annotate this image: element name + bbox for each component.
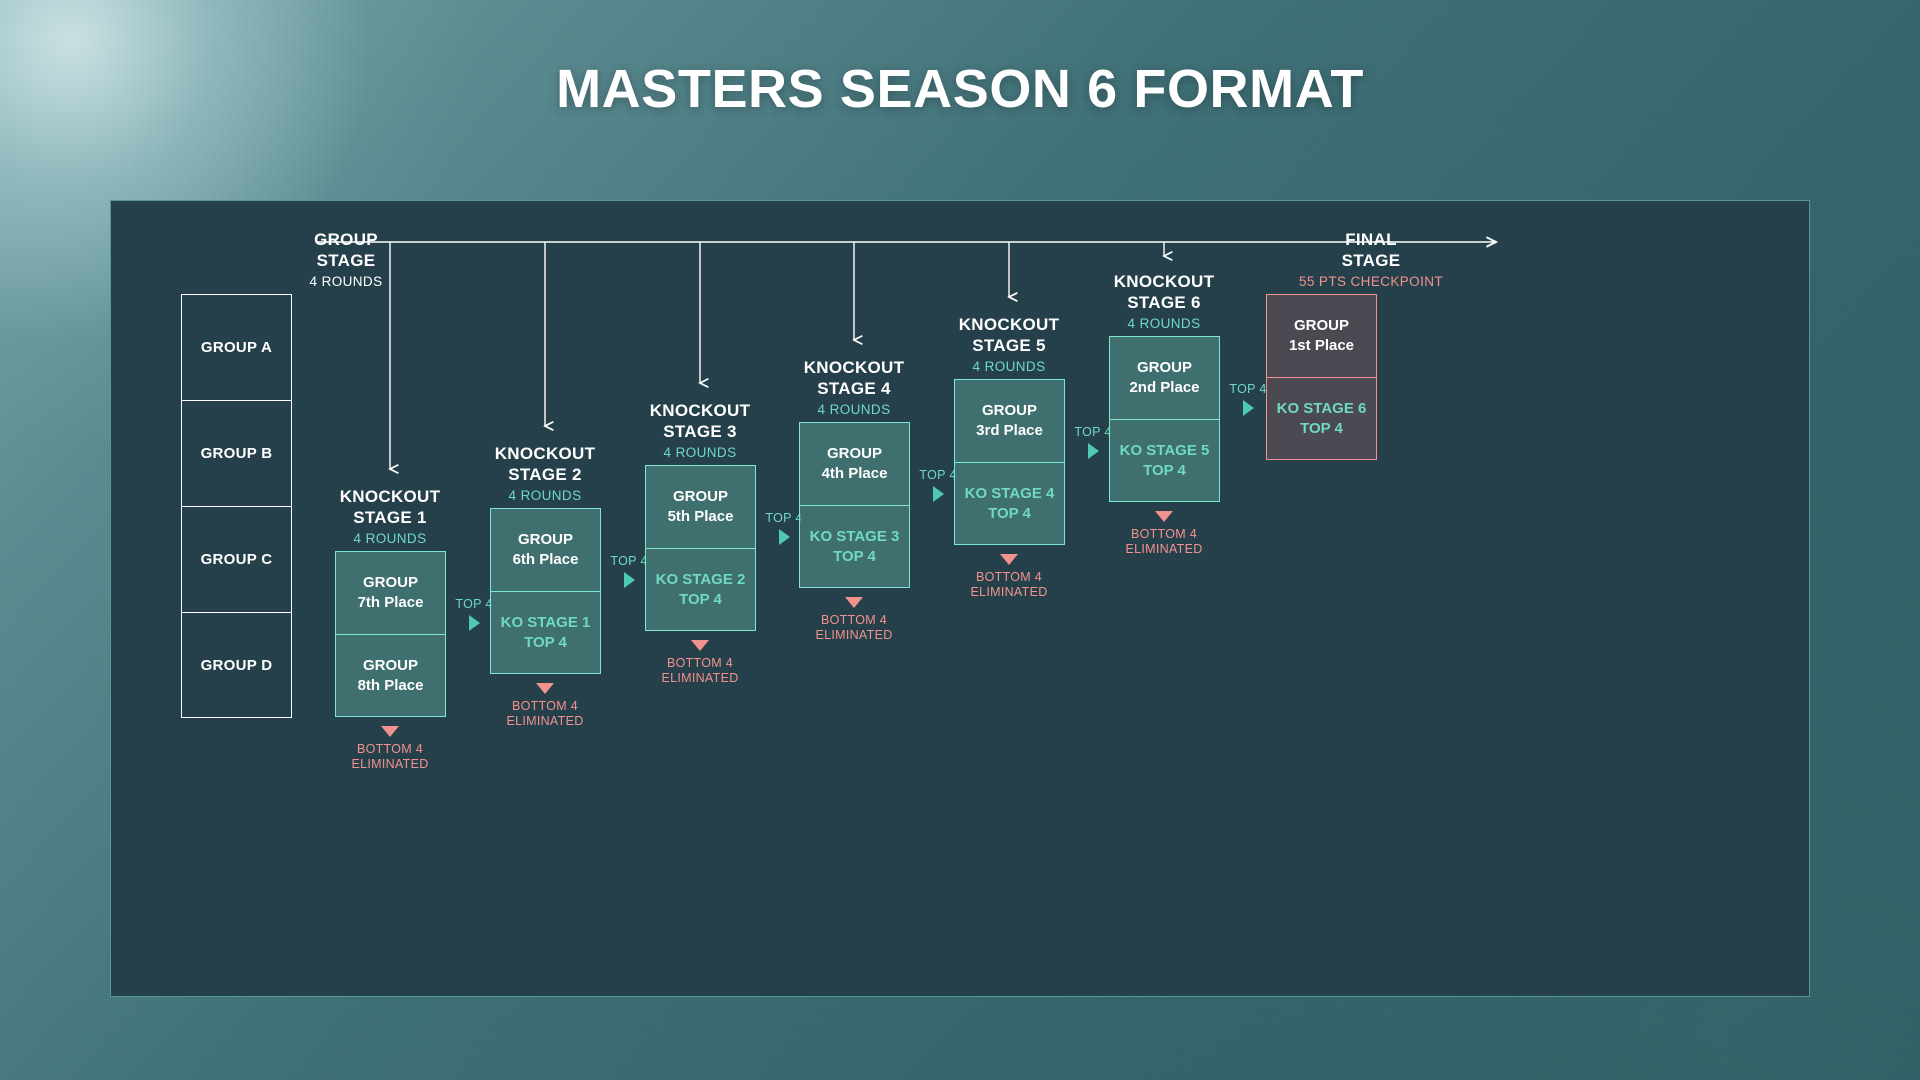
- group-stage-list: GROUP A GROUP B GROUP C GROUP D: [181, 294, 292, 718]
- knockout-6-elimination: BOTTOM 4 ELIMINATED: [1089, 511, 1239, 557]
- knockout-3-box[interactable]: GROUP 5th Place KO STAGE 2 TOP 4: [645, 465, 756, 631]
- knockout-4-bottom-slot[interactable]: KO STAGE 3 TOP 4: [800, 505, 909, 587]
- knockout-4-subtitle: 4 ROUNDS: [744, 402, 964, 417]
- group-cell-a[interactable]: GROUP A: [181, 294, 292, 400]
- knockout-3-subtitle: 4 ROUNDS: [590, 445, 810, 460]
- arrow-down-icon: [381, 726, 399, 737]
- knockout-3-elimination-label: BOTTOM 4 ELIMINATED: [625, 656, 775, 686]
- stage-group-stage: GROUP STAGE 4 ROUNDS: [236, 229, 456, 289]
- knockout-1-elimination-label: BOTTOM 4 ELIMINATED: [315, 742, 465, 772]
- knockout-6-elimination-label: BOTTOM 4 ELIMINATED: [1089, 527, 1239, 557]
- group-stage-title: GROUP STAGE: [236, 229, 456, 271]
- knockout-5-bottom-slot[interactable]: KO STAGE 4 TOP 4: [955, 462, 1064, 544]
- knockout-4-elimination: BOTTOM 4 ELIMINATED: [779, 597, 929, 643]
- knockout-1-box[interactable]: GROUP 7th Place GROUP 8th Place: [335, 551, 446, 717]
- arrow-down-icon: [536, 683, 554, 694]
- arrow-right-icon: [933, 486, 944, 502]
- group-cell-b[interactable]: GROUP B: [181, 400, 292, 506]
- knockout-5-subtitle: 4 ROUNDS: [899, 359, 1119, 374]
- knockout-6-subtitle: 4 ROUNDS: [1054, 316, 1274, 331]
- final-stage-top-slot[interactable]: GROUP 1st Place: [1267, 295, 1376, 377]
- group-cell-d[interactable]: GROUP D: [181, 612, 292, 718]
- knockout-3-bottom-slot[interactable]: KO STAGE 2 TOP 4: [646, 548, 755, 630]
- knockout-2-bottom-slot[interactable]: KO STAGE 1 TOP 4: [491, 591, 600, 673]
- page-title: MASTERS SEASON 6 FORMAT: [0, 58, 1920, 120]
- knockout-1-subtitle: 4 ROUNDS: [280, 531, 500, 546]
- arrow-down-icon: [845, 597, 863, 608]
- knockout-3-elimination: BOTTOM 4 ELIMINATED: [625, 640, 775, 686]
- knockout-4-top-slot[interactable]: GROUP 4th Place: [800, 423, 909, 505]
- knockout-5-elimination-label: BOTTOM 4 ELIMINATED: [934, 570, 1084, 600]
- arrow-right-icon: [624, 572, 635, 588]
- knockout-2-top-slot[interactable]: GROUP 6th Place: [491, 509, 600, 591]
- group-stage-subtitle: 4 ROUNDS: [236, 274, 456, 289]
- knockout-6-bottom-slot[interactable]: KO STAGE 5 TOP 4: [1110, 419, 1219, 501]
- knockout-2-elimination-label: BOTTOM 4 ELIMINATED: [470, 699, 620, 729]
- knockout-6-advance: TOP 4: [1225, 382, 1271, 416]
- knockout-5-box[interactable]: GROUP 3rd Place KO STAGE 4 TOP 4: [954, 379, 1065, 545]
- arrow-down-icon: [691, 640, 709, 651]
- group-cell-c[interactable]: GROUP C: [181, 506, 292, 612]
- arrow-down-icon: [1000, 554, 1018, 565]
- knockout-6-top-slot[interactable]: GROUP 2nd Place: [1110, 337, 1219, 419]
- arrow-right-icon: [469, 615, 480, 631]
- bracket-panel: GROUP STAGE 4 ROUNDS GROUP A GROUP B GRO…: [110, 200, 1810, 997]
- knockout-4-box[interactable]: GROUP 4th Place KO STAGE 3 TOP 4: [799, 422, 910, 588]
- arrow-right-icon: [1088, 443, 1099, 459]
- knockout-6-advance-label: TOP 4: [1225, 382, 1271, 396]
- knockout-2-elimination: BOTTOM 4 ELIMINATED: [470, 683, 620, 729]
- stage-final: FINAL STAGE 55 PTS CHECKPOINT: [1211, 229, 1531, 289]
- knockout-5-elimination: BOTTOM 4 ELIMINATED: [934, 554, 1084, 600]
- knockout-2-box[interactable]: GROUP 6th Place KO STAGE 1 TOP 4: [490, 508, 601, 674]
- final-stage-bottom-slot[interactable]: KO STAGE 6 TOP 4: [1267, 377, 1376, 459]
- knockout-6-box[interactable]: GROUP 2nd Place KO STAGE 5 TOP 4: [1109, 336, 1220, 502]
- knockout-2-subtitle: 4 ROUNDS: [435, 488, 655, 503]
- arrow-right-icon: [779, 529, 790, 545]
- final-stage-title: FINAL STAGE: [1211, 229, 1531, 271]
- knockout-1-bottom-slot[interactable]: GROUP 8th Place: [336, 634, 445, 716]
- knockout-3-top-slot[interactable]: GROUP 5th Place: [646, 466, 755, 548]
- final-stage-box[interactable]: GROUP 1st Place KO STAGE 6 TOP 4: [1266, 294, 1377, 460]
- arrow-down-icon: [1155, 511, 1173, 522]
- final-stage-subtitle: 55 PTS CHECKPOINT: [1211, 274, 1531, 289]
- arrow-right-icon: [1243, 400, 1254, 416]
- knockout-5-top-slot[interactable]: GROUP 3rd Place: [955, 380, 1064, 462]
- knockout-4-elimination-label: BOTTOM 4 ELIMINATED: [779, 613, 929, 643]
- knockout-1-top-slot[interactable]: GROUP 7th Place: [336, 552, 445, 634]
- knockout-1-elimination: BOTTOM 4 ELIMINATED: [315, 726, 465, 772]
